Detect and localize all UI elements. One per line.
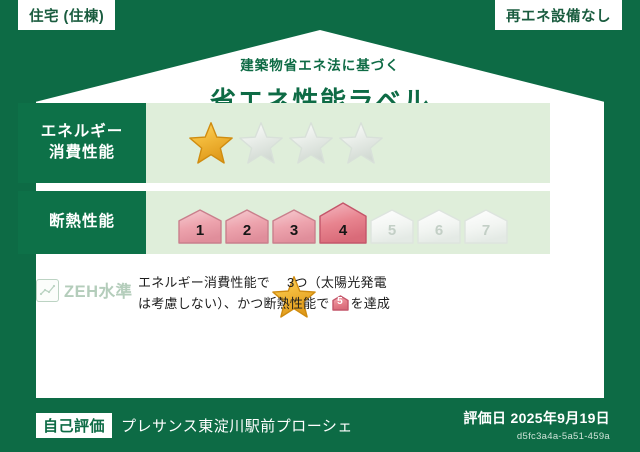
house-level-6: 6: [417, 209, 461, 244]
house-level-number: 3: [272, 222, 316, 239]
evaluation-id: d5fc3a4a-5a51-459a: [463, 431, 610, 442]
star-icon-inline: [271, 275, 286, 290]
insulation-performance-label-box: 断熱性能: [18, 191, 146, 254]
energy-label-line2: 消費性能: [49, 143, 115, 164]
zeh-text-part3: を達成: [351, 296, 391, 311]
house-level-1: 1: [178, 209, 222, 244]
energy-performance-label: 住宅 (住棟) 再エネ設備なし 建築物省エネ法に基づく 省エネ性能ラベル エネル…: [0, 0, 640, 452]
house-level-number: 5: [332, 294, 349, 310]
insulation-performance-row: 断熱性能 1 2 3 4 5 6 7: [18, 191, 550, 254]
evaluation-date: 評価日 2025年9月19日: [463, 408, 610, 428]
insulation-rating-body: 1 2 3 4 5 6 7: [146, 191, 550, 254]
house-level-number: 1: [178, 222, 222, 239]
zeh-badge: ZEH水準: [18, 272, 138, 302]
building-name: プレサンス東淀川駅前プローシェ: [121, 415, 353, 436]
star-icon-empty: [238, 121, 284, 165]
zeh-star-count: 3つ（太陽光発電: [287, 275, 387, 290]
star-icon-empty: [288, 121, 334, 165]
zeh-text-part1: エネルギー消費性能で: [138, 275, 270, 290]
insulation-label: 断熱性能: [49, 212, 115, 233]
house-icon-inline: 5: [332, 295, 349, 311]
house-level-7: 7: [464, 209, 508, 244]
house-level-number: 2: [225, 222, 269, 239]
house-level-2: 2: [225, 209, 269, 244]
zeh-chart-icon: [36, 279, 59, 302]
house-level-number: 6: [417, 222, 461, 239]
tag-building-type: 住宅 (住棟): [18, 0, 115, 30]
self-evaluation-badge: 自己評価: [36, 413, 112, 438]
house-level-number: 5: [370, 222, 414, 239]
house-level-3: 3: [272, 209, 316, 244]
star-icon-filled: [188, 121, 234, 165]
zeh-label: ZEH水準: [64, 278, 133, 302]
tag-renewable-equipment: 再エネ設備なし: [495, 0, 622, 30]
house-level-5: 5: [370, 209, 414, 244]
house-level-number: 7: [464, 222, 508, 239]
house-level-number: 4: [319, 222, 367, 239]
zeh-standard-block: ZEH水準 エネルギー消費性能で 3つ（太陽光発電 は考慮しない）、かつ断熱性能…: [18, 272, 550, 314]
house-level-4: 4: [319, 202, 367, 244]
evaluation-date-value: 2025年9月19日: [510, 410, 610, 426]
zeh-text-part2: は考慮しない）、かつ断熱性能で: [138, 296, 330, 311]
title-subtitle: 建築物省エネ法に基づく: [36, 54, 604, 74]
footer-right: 評価日 2025年9月19日 d5fc3a4a-5a51-459a: [463, 408, 640, 442]
label-footer: 自己評価 プレサンス東淀川駅前プローシェ 評価日 2025年9月19日 d5fc…: [0, 398, 640, 452]
energy-performance-row: エネルギー 消費性能: [18, 103, 550, 183]
star-rating: [146, 121, 384, 165]
energy-label-line1: エネルギー: [41, 122, 124, 143]
zeh-description: エネルギー消費性能で 3つ（太陽光発電 は考慮しない）、かつ断熱性能で 5を達成: [138, 272, 550, 314]
footer-left: 自己評価 プレサンス東淀川駅前プローシェ: [0, 413, 353, 438]
energy-performance-label-box: エネルギー 消費性能: [18, 103, 146, 183]
house-level-scale: 1 2 3 4 5 6 7: [146, 202, 508, 244]
energy-rating-body: [146, 103, 550, 183]
star-icon-empty: [338, 121, 384, 165]
evaluation-date-label: 評価日: [463, 410, 506, 426]
